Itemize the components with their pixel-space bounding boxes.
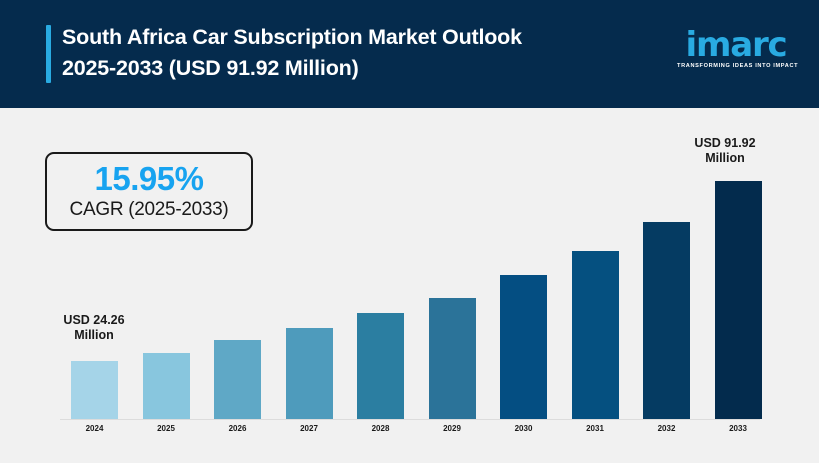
imarc-logo[interactable]: imarc TRANSFORMING IDEAS INTO IMPACT (677, 28, 795, 80)
x-axis-line (60, 419, 760, 420)
header-banner: South Africa Car Subscription Market Out… (0, 0, 819, 108)
cagr-callout-box: 15.95% CAGR (2025-2033) (45, 152, 253, 231)
x-tick-2028: 2028 (357, 423, 404, 435)
x-tick-2030: 2030 (500, 423, 547, 435)
bar-2026 (214, 340, 261, 419)
bar-2027 (286, 328, 333, 419)
last-value-callout: USD 91.92 Million (675, 136, 775, 166)
bar-2032 (643, 222, 690, 419)
x-tick-2031: 2031 (572, 423, 619, 435)
last-value-line-2: Million (675, 151, 775, 166)
first-value-line-2: Million (44, 328, 144, 343)
title-line-2: 2025-2033 (USD 91.92 Million) (62, 53, 622, 84)
cagr-label: CAGR (2025-2033) (70, 198, 229, 222)
bar-2031 (572, 251, 619, 419)
title-accent-bar (46, 25, 51, 83)
x-tick-2032: 2032 (643, 423, 690, 435)
last-value-line-1: USD 91.92 (675, 136, 775, 151)
x-tick-2026: 2026 (214, 423, 261, 435)
bar-2024 (71, 361, 118, 419)
title-line-1: South Africa Car Subscription Market Out… (62, 22, 622, 53)
cagr-value: 15.95% (95, 161, 204, 197)
first-value-line-1: USD 24.26 (44, 313, 144, 328)
bar-2028 (357, 313, 404, 419)
x-tick-2033: 2033 (715, 423, 762, 435)
x-tick-2027: 2027 (286, 423, 333, 435)
bar-2025 (143, 353, 190, 419)
logo-wordmark: imarc (677, 28, 795, 62)
first-value-callout: USD 24.26 Million (44, 313, 144, 343)
page-title: South Africa Car Subscription Market Out… (62, 22, 622, 84)
bar-2030 (500, 275, 547, 419)
x-tick-2025: 2025 (143, 423, 190, 435)
bar-2029 (429, 298, 476, 419)
logo-tagline: TRANSFORMING IDEAS INTO IMPACT (677, 63, 795, 69)
infographic-page: South Africa Car Subscription Market Out… (0, 0, 819, 463)
bar-2033 (715, 181, 762, 419)
x-tick-2024: 2024 (71, 423, 118, 435)
x-tick-2029: 2029 (429, 423, 476, 435)
